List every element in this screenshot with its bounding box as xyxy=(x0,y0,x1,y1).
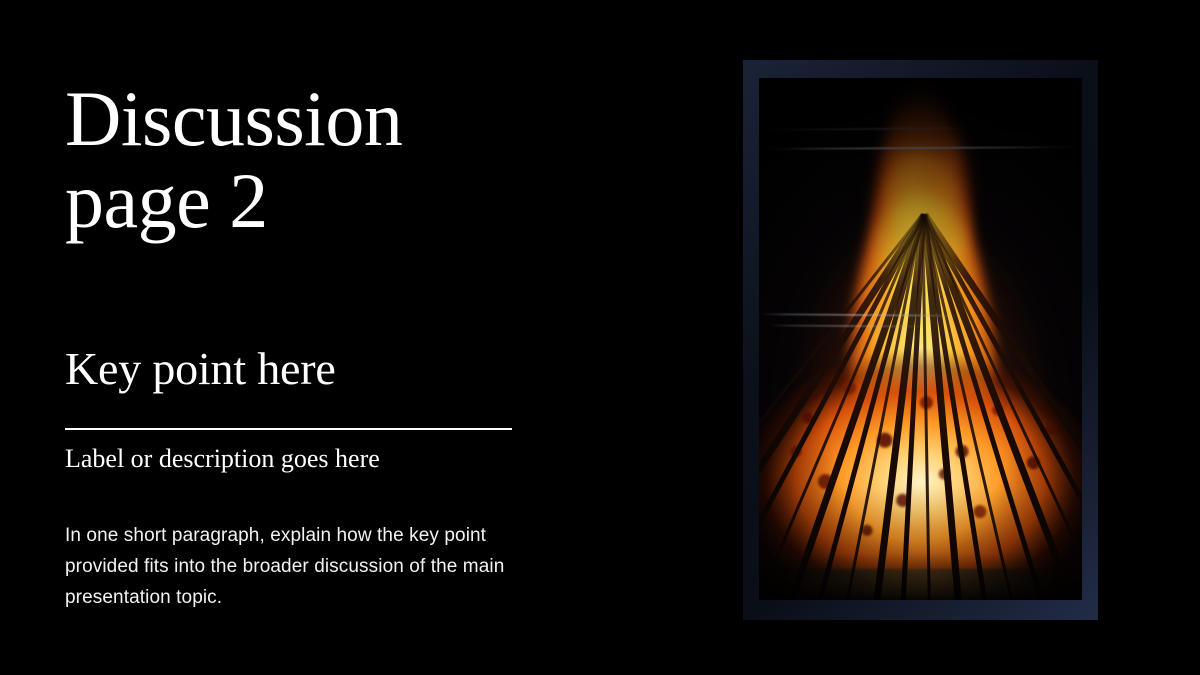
photo-frame xyxy=(743,60,1098,620)
photo-vignette xyxy=(759,78,1082,600)
text-column: Discussion page 2 Key point here Label o… xyxy=(65,0,585,675)
bonfire-photo xyxy=(759,78,1082,600)
page-title: Discussion page 2 xyxy=(65,78,585,242)
label-description: Label or description goes here xyxy=(65,443,585,476)
presentation-slide: Discussion page 2 Key point here Label o… xyxy=(0,0,1200,675)
divider-line xyxy=(65,428,512,430)
key-point-heading: Key point here xyxy=(65,344,585,395)
body-paragraph: In one short paragraph, explain how the … xyxy=(65,521,517,613)
